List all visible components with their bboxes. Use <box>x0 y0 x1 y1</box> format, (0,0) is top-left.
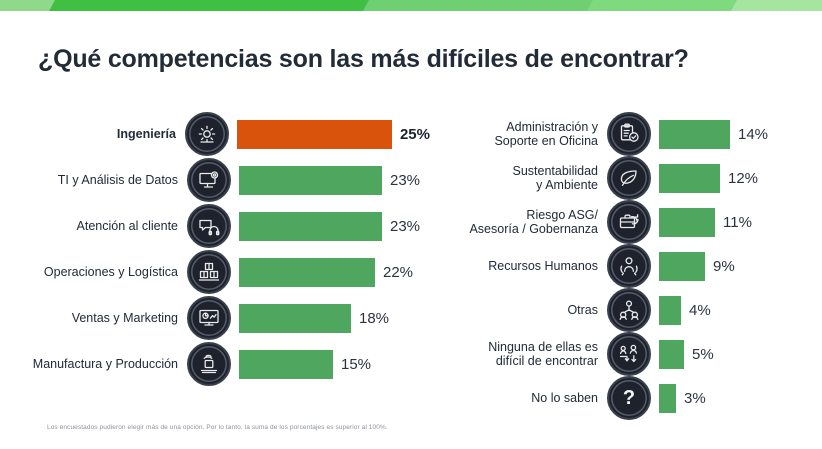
chart-column-right: Administración y Soporte en Oficina14%Su… <box>430 112 822 420</box>
people-group-icon <box>607 288 651 332</box>
bar <box>659 252 705 281</box>
bar <box>239 304 351 333</box>
bar-value-label: 23% <box>390 172 420 189</box>
bar-value-label: 11% <box>723 214 752 231</box>
briefcase-risk-icon <box>607 200 651 244</box>
bar <box>659 120 730 149</box>
clipboard-check-icon <box>607 112 651 156</box>
bar-wrapper: 5% <box>659 340 714 369</box>
row-label: Ingeniería <box>0 127 185 141</box>
bar-wrapper: 18% <box>239 304 389 333</box>
chart-row: Ventas y Marketing18% <box>0 296 430 340</box>
chart-row: Sustentabilidad y Ambiente12% <box>430 156 822 200</box>
bar-value-label: 25% <box>400 126 430 143</box>
chart-row: Administración y Soporte en Oficina14% <box>430 112 822 156</box>
row-label: Administración y Soporte en Oficina <box>430 120 607 148</box>
gear-engineering-icon <box>185 112 229 156</box>
accent-segment-3 <box>363 0 599 11</box>
row-label: Ninguna de ellas es difícil de encontrar <box>430 340 607 368</box>
accent-segment-4 <box>587 0 743 11</box>
chart-monitor-icon <box>187 296 231 340</box>
bar <box>239 212 382 241</box>
bar <box>237 120 392 149</box>
bar-wrapper: 22% <box>239 258 413 287</box>
row-label: Atención al cliente <box>0 219 187 233</box>
bar-wrapper: 12% <box>659 164 758 193</box>
question-mark-icon: ? <box>607 376 651 420</box>
bar <box>239 258 375 287</box>
bar-value-label: 3% <box>684 390 706 407</box>
bar-value-label: 22% <box>383 264 413 281</box>
bar-wrapper: 11% <box>659 208 752 237</box>
bar-value-label: 12% <box>728 170 758 187</box>
bar <box>659 164 720 193</box>
bar-value-label: 14% <box>738 126 768 143</box>
chart-row: Ingeniería25% <box>0 112 430 156</box>
top-accent-bar <box>0 0 822 11</box>
bar <box>239 166 382 195</box>
chart-row: No lo saben?3% <box>430 376 822 420</box>
chat-headset-icon <box>187 204 231 248</box>
accent-segment-5 <box>731 0 822 11</box>
bar-value-label: 15% <box>341 356 371 373</box>
bar <box>659 384 676 413</box>
boxes-logistics-icon <box>187 250 231 294</box>
row-label: Recursos Humanos <box>430 259 607 273</box>
bar <box>239 350 333 379</box>
bar-value-label: 18% <box>359 310 389 327</box>
bar-wrapper: 14% <box>659 120 768 149</box>
bar-wrapper: 9% <box>659 252 735 281</box>
chart-row: TI y Análisis de Datos23% <box>0 158 430 202</box>
bar-value-label: 23% <box>390 218 420 235</box>
chart-row: Otras4% <box>430 288 822 332</box>
chart-row: Riesgo ASG/ Asesoría / Gobernanza11% <box>430 200 822 244</box>
bar-wrapper: 3% <box>659 384 706 413</box>
row-label: Operaciones y Logística <box>0 265 187 279</box>
chart-row: Operaciones y Logística22% <box>0 250 430 294</box>
people-flow-icon <box>607 332 651 376</box>
chart-row: Manufactura y Producción15% <box>0 342 430 386</box>
footnote: Los encuestados pudieron elegir más de u… <box>47 424 388 431</box>
row-label: Otras <box>430 303 607 317</box>
row-label: TI y Análisis de Datos <box>0 173 187 187</box>
chart-row: Recursos Humanos9% <box>430 244 822 288</box>
bar-wrapper: 25% <box>237 120 430 149</box>
monitor-gear-icon <box>187 158 231 202</box>
bar-wrapper: 4% <box>659 296 711 325</box>
machine-production-icon <box>187 342 231 386</box>
chart-column-left: Ingeniería25%TI y Análisis de Datos23%At… <box>0 112 430 388</box>
bar-value-label: 4% <box>689 302 711 319</box>
chart-row: Ninguna de ellas es difícil de encontrar… <box>430 332 822 376</box>
bar-wrapper: 23% <box>239 166 420 195</box>
leaf-icon <box>607 156 651 200</box>
bar <box>659 208 715 237</box>
person-hands-hr-icon <box>607 244 651 288</box>
bar-wrapper: 15% <box>239 350 371 379</box>
bar-wrapper: 23% <box>239 212 420 241</box>
row-label: Riesgo ASG/ Asesoría / Gobernanza <box>430 208 607 236</box>
row-label: Sustentabilidad y Ambiente <box>430 164 607 192</box>
bar-value-label: 9% <box>713 258 735 275</box>
row-label: Ventas y Marketing <box>0 311 187 325</box>
bar <box>659 340 684 369</box>
accent-segment-2 <box>49 0 375 11</box>
row-label: No lo saben <box>430 391 607 405</box>
row-label: Manufactura y Producción <box>0 357 187 371</box>
bar-value-label: 5% <box>692 346 714 363</box>
bar <box>659 296 681 325</box>
page-title: ¿Qué competencias son las más difíciles … <box>38 45 689 74</box>
chart-row: Atención al cliente23% <box>0 204 430 248</box>
